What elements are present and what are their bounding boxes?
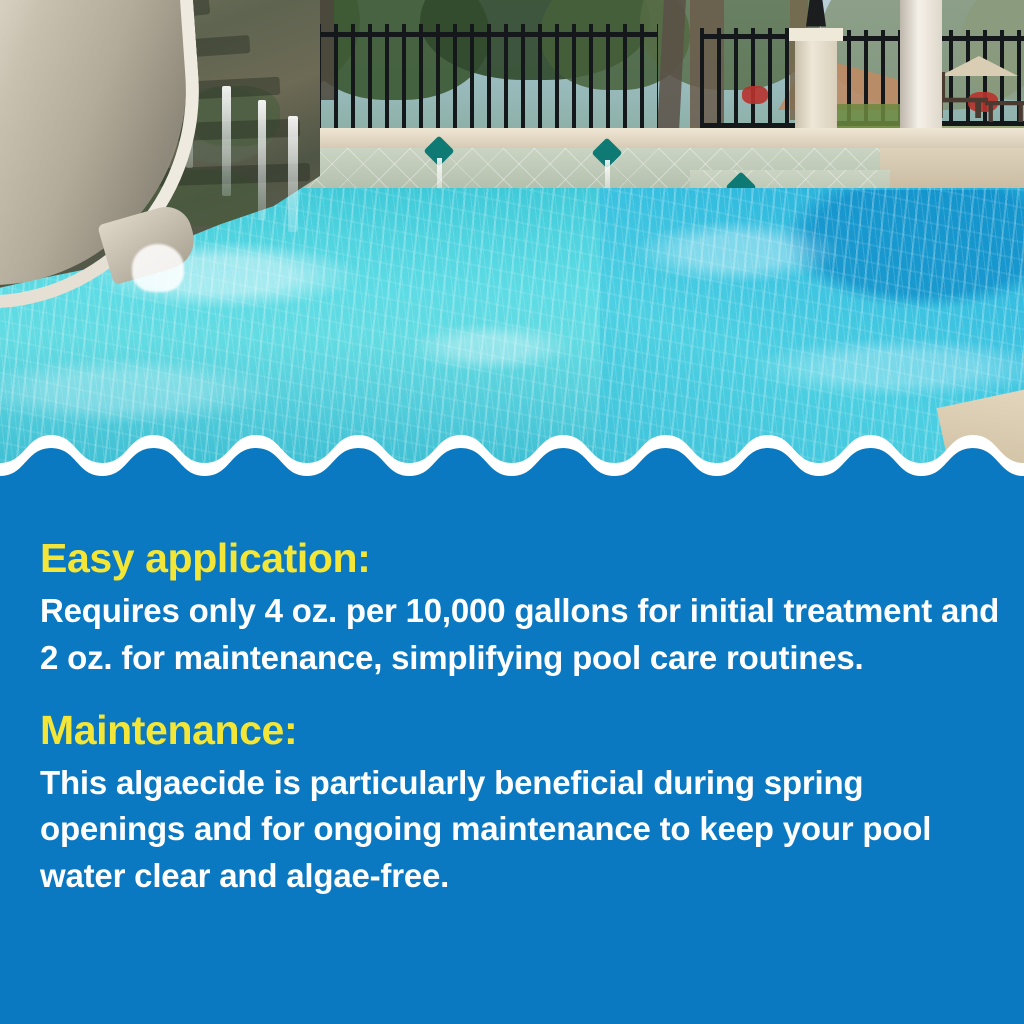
panel-content: Easy application: Requires only 4 oz. pe… — [40, 536, 1024, 926]
body-easy-application: Requires only 4 oz. per 10,000 gallons f… — [40, 588, 1020, 682]
pillar-cap — [789, 28, 843, 41]
waterfall-stream — [288, 116, 298, 232]
pool-photo — [0, 0, 1024, 478]
red-flower — [742, 86, 768, 104]
info-block-maintenance: Maintenance: This algaecide is particula… — [40, 708, 1024, 900]
water-splash — [132, 244, 184, 292]
heading-easy-application: Easy application: — [40, 536, 1024, 582]
body-maintenance: This algaecide is particularly beneficia… — [40, 760, 960, 901]
info-panel: Easy application: Requires only 4 oz. pe… — [0, 478, 1024, 1024]
waterfall-stream — [258, 100, 266, 220]
waterfall-stream — [222, 86, 231, 196]
stucco-pillar — [795, 28, 837, 138]
pool-coping — [220, 128, 1024, 148]
heading-maintenance: Maintenance: — [40, 708, 1024, 754]
infographic-card: Easy application: Requires only 4 oz. pe… — [0, 0, 1024, 1024]
info-block-easy-application: Easy application: Requires only 4 oz. pe… — [40, 536, 1024, 682]
